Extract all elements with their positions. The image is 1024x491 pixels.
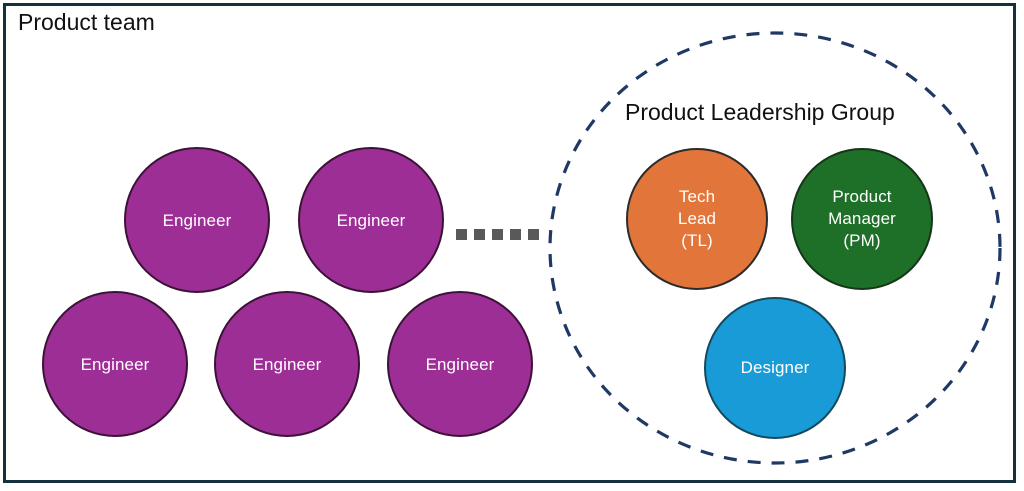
node-engineer-4[interactable]: Engineer: [214, 291, 360, 437]
diagram-canvas: Product team Product Leadership Group En…: [0, 0, 1024, 491]
node-tech-lead[interactable]: Tech Lead (TL): [626, 148, 768, 290]
node-label: Engineer: [157, 210, 238, 231]
node-label: Engineer: [247, 354, 328, 375]
node-engineer-5[interactable]: Engineer: [387, 291, 533, 437]
leadership-group-label: Product Leadership Group: [625, 98, 895, 126]
node-label: Engineer: [75, 354, 156, 375]
node-label: Tech Lead (TL): [672, 186, 722, 252]
node-engineer-2[interactable]: Engineer: [298, 147, 444, 293]
node-engineer-3[interactable]: Engineer: [42, 291, 188, 437]
page-title: Product team: [18, 8, 155, 36]
node-label: Engineer: [331, 210, 412, 231]
node-label: Engineer: [420, 354, 501, 375]
node-product-manager[interactable]: Product Manager (PM): [791, 148, 933, 290]
node-engineer-1[interactable]: Engineer: [124, 147, 270, 293]
node-designer[interactable]: Designer: [704, 297, 846, 439]
node-label: Product Manager (PM): [822, 186, 902, 252]
node-label: Designer: [735, 357, 816, 379]
